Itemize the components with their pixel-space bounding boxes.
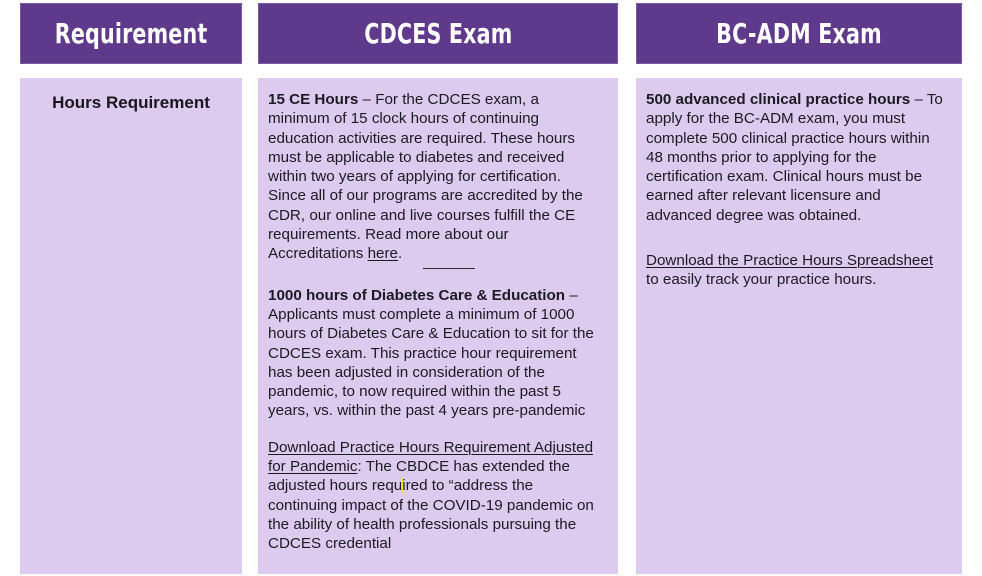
column-bcadm-exam: BC-ADM Exam 500 advanced clinical practi… (636, 0, 962, 576)
cdces-ce-hours-bold: 15 CE Hours (268, 91, 358, 108)
cdces-paragraph-download-adjusted: Download Practice Hours Requirement Adju… (268, 438, 602, 554)
cdces-ce-hours-tail: . (398, 245, 402, 262)
header-cell-bcadm: BC-ADM Exam (636, 3, 962, 64)
cdces-1000-hours-bold: 1000 hours of Diabetes Care & Education (268, 287, 565, 304)
paragraph-spacer (268, 277, 602, 286)
cell-cdces-hours: 15 CE Hours – For the CDCES exam, a mini… (258, 78, 618, 574)
cdces-1000-hours-text: Applicants must complete a minimum of 10… (268, 306, 594, 419)
paragraph-spacer (268, 429, 602, 438)
header-cell-cdces: CDCES Exam (258, 3, 618, 64)
cdces-ce-hours-dash: – (358, 91, 375, 108)
bcadm-500-hours-dash: – (910, 91, 927, 108)
column-cdces-exam: CDCES Exam 15 CE Hours – For the CDCES e… (258, 0, 618, 576)
header-cell-requirement: Requirement (20, 3, 242, 64)
paragraph-spacer (646, 242, 946, 251)
cdces-here-link[interactable]: here (368, 245, 398, 262)
bcadm-paragraph-500-hours: 500 advanced clinical practice hours – T… (646, 90, 946, 225)
here-link-underline-artifact (423, 268, 475, 269)
column-requirement: Requirement Hours Requirement (20, 0, 242, 576)
cell-requirement-hours: Hours Requirement (20, 78, 242, 574)
cdces-paragraph-1000-hours: 1000 hours of Diabetes Care & Education … (268, 286, 602, 421)
bcadm-download-spreadsheet-link[interactable]: Download the Practice Hours Spreadsheet (646, 252, 933, 269)
bcadm-500-hours-text: To apply for the BC-ADM exam, you must c… (646, 91, 943, 224)
comparison-table: Requirement Hours Requirement CDCES Exam… (0, 0, 982, 576)
cell-bcadm-hours: 500 advanced clinical practice hours – T… (636, 78, 962, 574)
bcadm-p2-text: to easily track your practice hours. (646, 271, 876, 288)
requirement-row-label: Hours Requirement (20, 92, 242, 114)
cdces-ce-hours-text: For the CDCES exam, a minimum of 15 cloc… (268, 91, 583, 262)
bcadm-500-hours-bold: 500 advanced clinical practice hours (646, 91, 910, 108)
header-label-cdces: CDCES Exam (364, 20, 512, 48)
header-label-requirement: Requirement (55, 20, 208, 48)
cdces-paragraph-ce-hours: 15 CE Hours – For the CDCES exam, a mini… (268, 90, 602, 269)
header-label-bcadm: BC-ADM Exam (716, 20, 882, 48)
cdces-1000-hours-dash: – (565, 287, 578, 304)
paragraph-spacer (646, 233, 946, 242)
bcadm-paragraph-download-spreadsheet: Download the Practice Hours Spreadsheet … (646, 251, 946, 290)
